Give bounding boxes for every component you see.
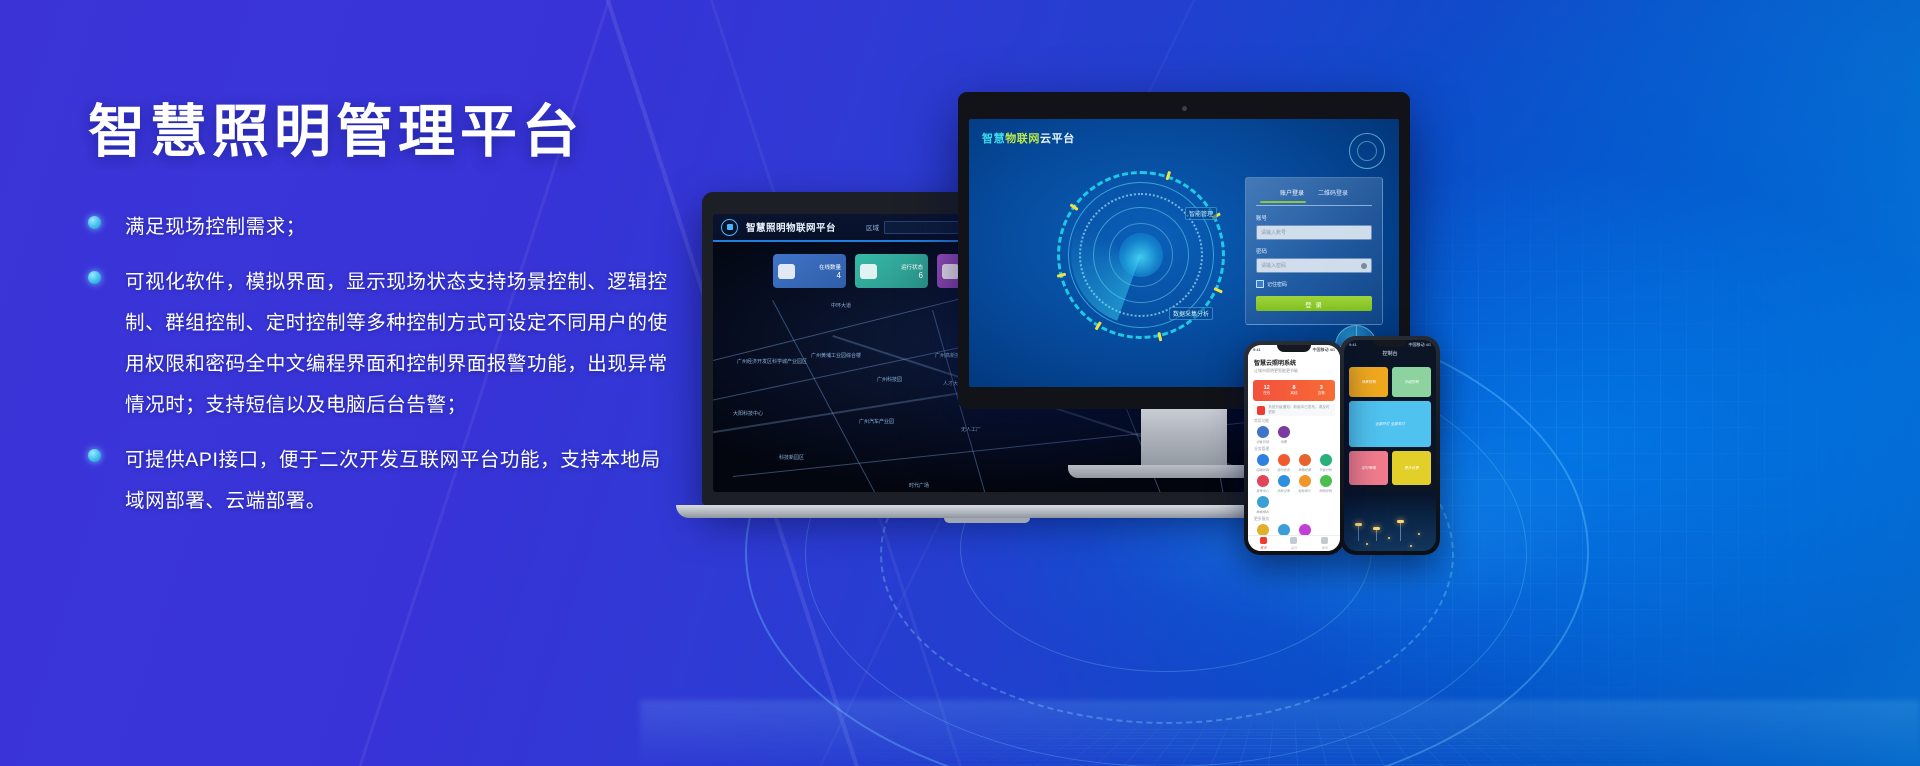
- map-label: 大阳科技中心: [733, 410, 763, 417]
- grid-item[interactable]: 节能分析: [1315, 454, 1336, 472]
- imac-camera-icon: [1182, 106, 1187, 111]
- city-night-photo: [1344, 493, 1436, 551]
- tile-label: 全部开灯 全部关灯: [1375, 422, 1405, 427]
- imac-stand-neck: [1141, 409, 1227, 465]
- imac-app-logo: 智慧物联网云平台: [982, 130, 1075, 146]
- device-icon: [1257, 426, 1269, 438]
- tab-profile[interactable]: 我的: [1321, 537, 1328, 550]
- hud-corner-icon: [1349, 133, 1385, 169]
- account-input[interactable]: 请输入账号: [1256, 225, 1372, 240]
- section-label: 业务管理: [1254, 447, 1340, 452]
- copy-block: 智慧照明管理平台 满足现场控制需求； 可视化软件，模拟界面，显示现场状态支持场景…: [88, 104, 678, 536]
- section-label: 常用功能: [1254, 419, 1340, 424]
- kpi-value: 6: [901, 271, 923, 280]
- grid-item[interactable]: 场景: [1273, 426, 1294, 444]
- feature-text: 可提供API接口，便于二次开发互联网平台功能，支持本地局域网部署、云端部署。: [125, 440, 678, 522]
- bullet-dot-icon: [88, 271, 101, 284]
- feature-list: 满足现场控制需求； 可视化软件，模拟界面，显示现场状态支持场景控制、逻辑控制、群…: [88, 207, 678, 522]
- device-mockups: 在线数量 4 运行状态 6: [640, 0, 1920, 766]
- stat-item: 3 告警: [1318, 385, 1325, 396]
- notice-bar[interactable]: 系统升级通知：新版本已发布，请及时更新: [1253, 404, 1335, 416]
- grid-item[interactable]: 策略配置: [1294, 454, 1315, 472]
- eye-icon[interactable]: [1361, 263, 1367, 269]
- kpi-icon: [942, 264, 959, 279]
- grid-item-label: 场景: [1280, 439, 1286, 444]
- grid-item-label: 回路控制: [1256, 467, 1269, 472]
- map-label: 中环大道: [831, 302, 851, 309]
- grid-item[interactable]: 回路控制: [1252, 454, 1273, 472]
- notice-text: 系统升级通知：新版本已发布，请及时更新: [1268, 405, 1331, 415]
- grid-item-label: 设备管理: [1256, 439, 1269, 444]
- quick-actions-grid: 设备管理 场景: [1248, 426, 1340, 444]
- map-label: 时代广场: [909, 482, 929, 489]
- grid-item-label: 节能分析: [1319, 467, 1332, 472]
- tile-label: 定时策略: [1361, 466, 1375, 471]
- tile-label: 更多设置: [1404, 466, 1418, 471]
- section-label: 更多服务: [1254, 517, 1340, 522]
- logo-part-3: 云平台: [1040, 133, 1075, 145]
- radar-graphic: 智能管理 数据采集分析: [1057, 171, 1225, 339]
- logo-part-1: 智慧: [982, 133, 1005, 145]
- inspection-icon: [1278, 475, 1290, 487]
- map-label: 广州经济开发区科学城产业园区: [737, 358, 807, 365]
- grid-item-label: 照明控制: [1319, 488, 1332, 493]
- tab-account-login[interactable]: 账户登录: [1280, 188, 1304, 197]
- business-grid: 回路控制 定时任务 策略配置 节能分析 告警中心 巡检记录 能耗统计 照明控制 …: [1248, 454, 1340, 514]
- stats-banner: 12 在线 8 离线 3 告警: [1253, 380, 1335, 401]
- kpi-value: 4: [819, 271, 841, 280]
- phone-mockup-left: 9:41 中国移动 4G 智慧云照明系统 让城市照明更智能更节能 12 在线 8…: [1244, 341, 1344, 555]
- home-icon: [1260, 537, 1267, 544]
- tab-label: 监控: [1291, 545, 1297, 550]
- tile-label: 分组控制: [1404, 380, 1418, 385]
- laptop-app-title: 智慧照明物联网平台: [746, 220, 836, 234]
- map-label: 广州黄埔工业园综合楼: [811, 352, 861, 359]
- login-tabs: 账户登录 二维码登录: [1256, 188, 1372, 197]
- grid-item-label: 策略配置: [1298, 467, 1311, 472]
- tile-group-control[interactable]: 分组控制: [1392, 367, 1431, 397]
- timer-icon: [1278, 454, 1290, 466]
- user-icon: [1321, 537, 1328, 544]
- tab-label: 首页: [1260, 545, 1266, 550]
- kpi-metric: 在线数量: [819, 263, 841, 271]
- tile-scene-control[interactable]: 场景控制: [1349, 367, 1388, 397]
- laptop-notch: [944, 518, 1030, 523]
- status-signal: 中国移动 4G: [1313, 347, 1335, 353]
- stat-item: 12 在线: [1263, 385, 1270, 396]
- phone-notch: [1373, 340, 1407, 347]
- kpi-metric: 运行状态: [901, 263, 923, 271]
- tile-timer-strategy[interactable]: 定时策略: [1349, 451, 1388, 485]
- stat-item: 8 离线: [1290, 385, 1297, 396]
- list-item: 满足现场控制需求；: [88, 207, 678, 248]
- tab-qrcode-login[interactable]: 二维码登录: [1318, 188, 1348, 197]
- kpi-icon: [778, 264, 795, 279]
- password-label: 密码: [1256, 247, 1372, 255]
- account-label: 账号: [1256, 214, 1372, 222]
- tab-home[interactable]: 首页: [1260, 537, 1267, 550]
- account-placeholder: 请输入账号: [1261, 229, 1286, 236]
- strategy-icon: [1299, 454, 1311, 466]
- kpi-card[interactable]: 在线数量 4: [773, 254, 846, 288]
- phone-tab-bar: 首页 监控 我的: [1248, 535, 1340, 551]
- login-button[interactable]: 登 录: [1256, 296, 1372, 311]
- region-select[interactable]: [884, 221, 964, 234]
- phone-app-subtitle: 让城市照明更智能更节能: [1254, 368, 1334, 374]
- phone-left-screen: 9:41 中国移动 4G 智慧云照明系统 让城市照明更智能更节能 12 在线 8…: [1248, 345, 1340, 551]
- feature-text: 满足现场控制需求；: [125, 207, 306, 248]
- report-icon: [1257, 496, 1269, 508]
- grid-item[interactable]: 能耗统计: [1294, 475, 1315, 493]
- password-placeholder: 请输入密码: [1261, 262, 1286, 269]
- grid-item-label: 定时任务: [1277, 467, 1290, 472]
- filter-label: 区域: [866, 222, 879, 232]
- grid-item-label: 巡检记录: [1277, 488, 1290, 493]
- grid-item[interactable]: 设备管理: [1252, 426, 1273, 444]
- page-title: 智慧照明管理平台: [88, 104, 678, 161]
- password-input[interactable]: 请输入密码: [1256, 258, 1372, 273]
- status-signal: 中国移动 4G: [1409, 342, 1431, 348]
- grid-item[interactable]: 定时任务: [1273, 454, 1294, 472]
- bullet-dot-icon: [88, 449, 101, 462]
- list-item: 可视化软件，模拟界面，显示现场状态支持场景控制、逻辑控制、群组控制、定时控制等多…: [88, 262, 678, 426]
- tile-more-settings[interactable]: 更多设置: [1392, 451, 1431, 485]
- promo-banner: 智慧照明管理平台 满足现场控制需求； 可视化软件，模拟界面，显示现场状态支持场景…: [0, 0, 1920, 766]
- tab-active-indicator: [1260, 201, 1306, 203]
- grid-item-label: 能耗统计: [1298, 488, 1311, 493]
- radar-tag: 智能管理: [1185, 207, 1217, 220]
- grid-item[interactable]: 告警中心: [1252, 475, 1273, 493]
- feature-text: 可视化软件，模拟界面，显示现场状态支持场景控制、逻辑控制、群组控制、定时控制等多…: [125, 262, 678, 426]
- divider: [1256, 205, 1372, 206]
- grid-item-label: 告警中心: [1256, 488, 1269, 493]
- remember-label: 记住密码: [1267, 281, 1287, 288]
- energy-icon: [1320, 454, 1332, 466]
- tab-monitor[interactable]: 监控: [1290, 537, 1297, 550]
- status-time: 9:41: [1349, 342, 1357, 347]
- remember-password-row[interactable]: 记住密码: [1256, 280, 1372, 288]
- laptop-base: [676, 505, 1298, 518]
- phone-right-screen: 9:41 中国移动 4G 控制台 场景控制 分组控制: [1344, 340, 1436, 551]
- app-logo-icon: [721, 219, 738, 236]
- phone-left-header: 智慧云照明系统 让城市照明更智能更节能: [1248, 354, 1340, 377]
- grid-item[interactable]: 数据报表: [1252, 496, 1273, 514]
- alarm-icon: [1257, 475, 1269, 487]
- radar-tag: 数据采集分析: [1169, 307, 1213, 320]
- stat-label: 离线: [1290, 391, 1297, 396]
- phone-right-title: 控制台: [1344, 350, 1436, 357]
- bullet-dot-icon: [88, 216, 101, 229]
- lighting-icon: [1320, 475, 1332, 487]
- tile-label: 场景控制: [1361, 380, 1375, 385]
- grid-item[interactable]: 巡检记录: [1273, 475, 1294, 493]
- kpi-card[interactable]: 运行状态 6: [855, 254, 928, 288]
- map-label: 科技新园区: [779, 454, 804, 461]
- monitor-icon: [1290, 537, 1297, 544]
- checkbox-icon[interactable]: [1256, 280, 1264, 288]
- stat-label: 在线: [1263, 391, 1270, 396]
- scene-icon: [1278, 426, 1290, 438]
- statistics-icon: [1299, 475, 1311, 487]
- map-label: 广州汽车产业园: [859, 418, 894, 425]
- phone-notch: [1277, 345, 1311, 352]
- phone-app-title: 智慧云照明系统: [1254, 358, 1334, 367]
- map-label: 广州科技园: [877, 376, 902, 383]
- stat-label: 告警: [1318, 391, 1325, 396]
- grid-item-label: 数据报表: [1256, 509, 1269, 514]
- grid-item[interactable]: 照明控制: [1315, 475, 1336, 493]
- phone-mockup-right: 9:41 中国移动 4G 控制台 场景控制 分组控制: [1340, 336, 1440, 555]
- tile-grid: 场景控制 分组控制 全部开灯 全部关灯 定时策略: [1344, 357, 1436, 485]
- logo-part-2: 物联网: [1005, 133, 1040, 145]
- list-item: 可提供API接口，便于二次开发互联网平台功能，支持本地局域网部署、云端部署。: [88, 440, 678, 522]
- tile-all-lights[interactable]: 全部开灯 全部关灯: [1349, 401, 1431, 447]
- login-panel: 账户登录 二维码登录 账号 请输入账号 密码 请输入密码: [1245, 177, 1383, 325]
- kpi-icon: [860, 264, 877, 279]
- tab-label: 我的: [1321, 545, 1327, 550]
- status-time: 9:41: [1253, 347, 1261, 352]
- megaphone-icon: [1257, 406, 1265, 415]
- circuit-icon: [1257, 454, 1269, 466]
